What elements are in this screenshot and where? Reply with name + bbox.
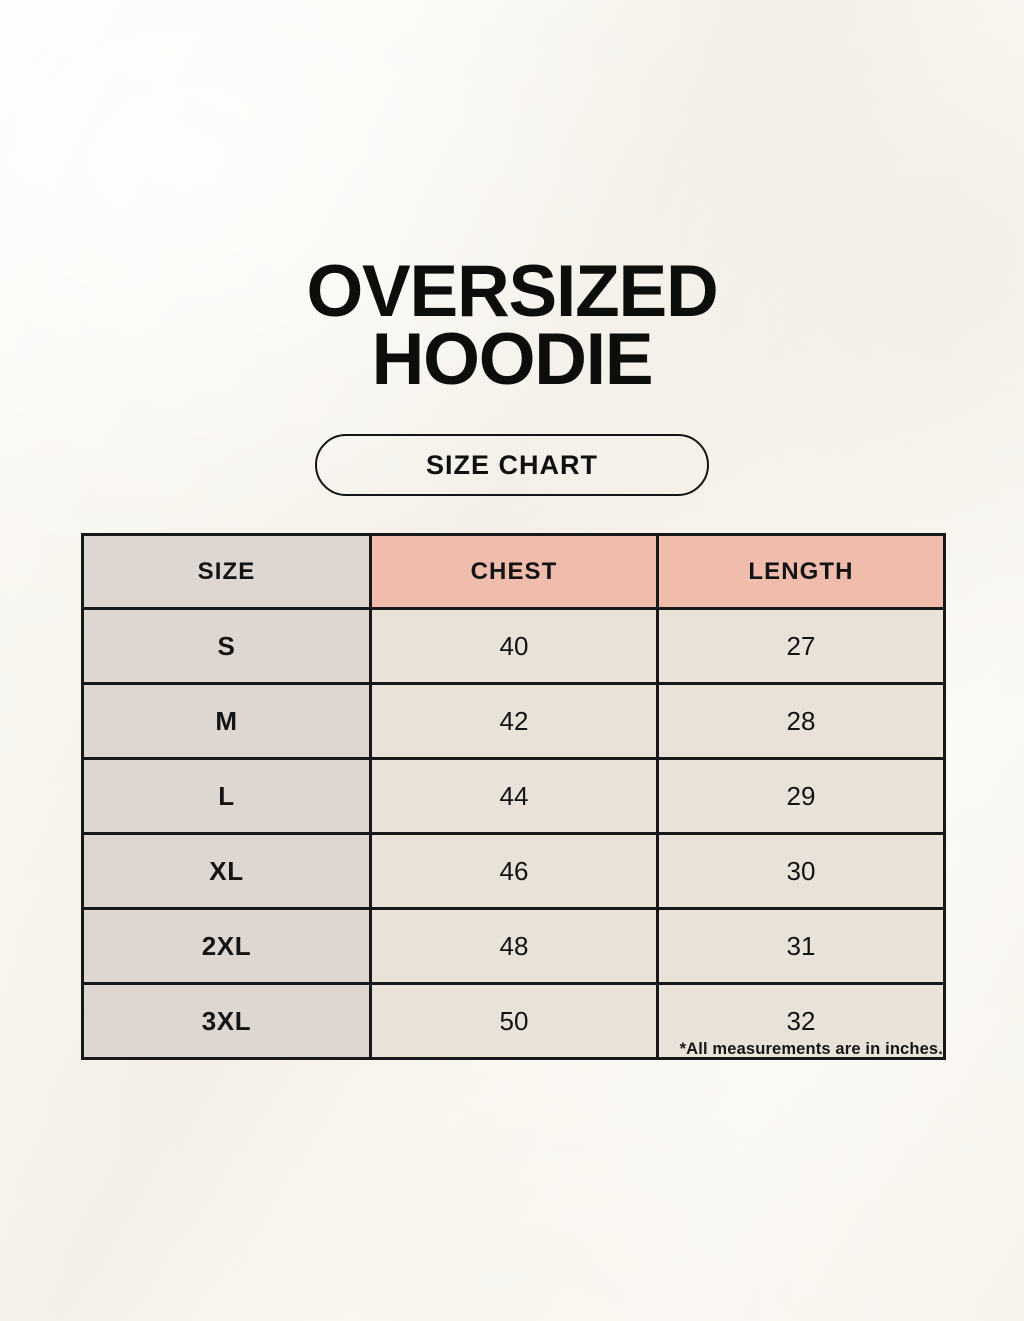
cell-length: 29 (658, 759, 945, 834)
cell-length: 31 (658, 909, 945, 984)
page-title: OVERSIZED HOODIE (0, 258, 1024, 394)
cell-size: M (83, 684, 371, 759)
cell-chest: 42 (371, 684, 658, 759)
table-row: M 42 28 (83, 684, 945, 759)
cell-size: S (83, 609, 371, 684)
column-header-length: LENGTH (658, 535, 945, 609)
cell-chest: 46 (371, 834, 658, 909)
table-row: S 40 27 (83, 609, 945, 684)
cell-chest: 48 (371, 909, 658, 984)
badge-container: SIZE CHART (0, 434, 1024, 496)
table-row: 2XL 48 31 (83, 909, 945, 984)
table-header-row: SIZE CHEST LENGTH (83, 535, 945, 609)
cell-size: XL (83, 834, 371, 909)
measurements-footnote: *All measurements are in inches. (81, 1040, 943, 1059)
cell-size: 2XL (83, 909, 371, 984)
table-row: L 44 29 (83, 759, 945, 834)
cell-length: 28 (658, 684, 945, 759)
cell-length: 27 (658, 609, 945, 684)
cell-chest: 44 (371, 759, 658, 834)
column-header-chest: CHEST (371, 535, 658, 609)
size-chart-page: OVERSIZED HOODIE SIZE CHART SIZE CHEST L… (0, 0, 1024, 1321)
cell-chest: 40 (371, 609, 658, 684)
table-row: XL 46 30 (83, 834, 945, 909)
table-body: S 40 27 M 42 28 L 44 29 XL 46 30 2XL 48 (83, 609, 945, 1059)
size-chart-badge: SIZE CHART (315, 434, 709, 496)
cell-size: L (83, 759, 371, 834)
size-chart-table: SIZE CHEST LENGTH S 40 27 M 42 28 L 44 2… (81, 533, 946, 1060)
cell-length: 30 (658, 834, 945, 909)
column-header-size: SIZE (83, 535, 371, 609)
table-header: SIZE CHEST LENGTH (83, 535, 945, 609)
